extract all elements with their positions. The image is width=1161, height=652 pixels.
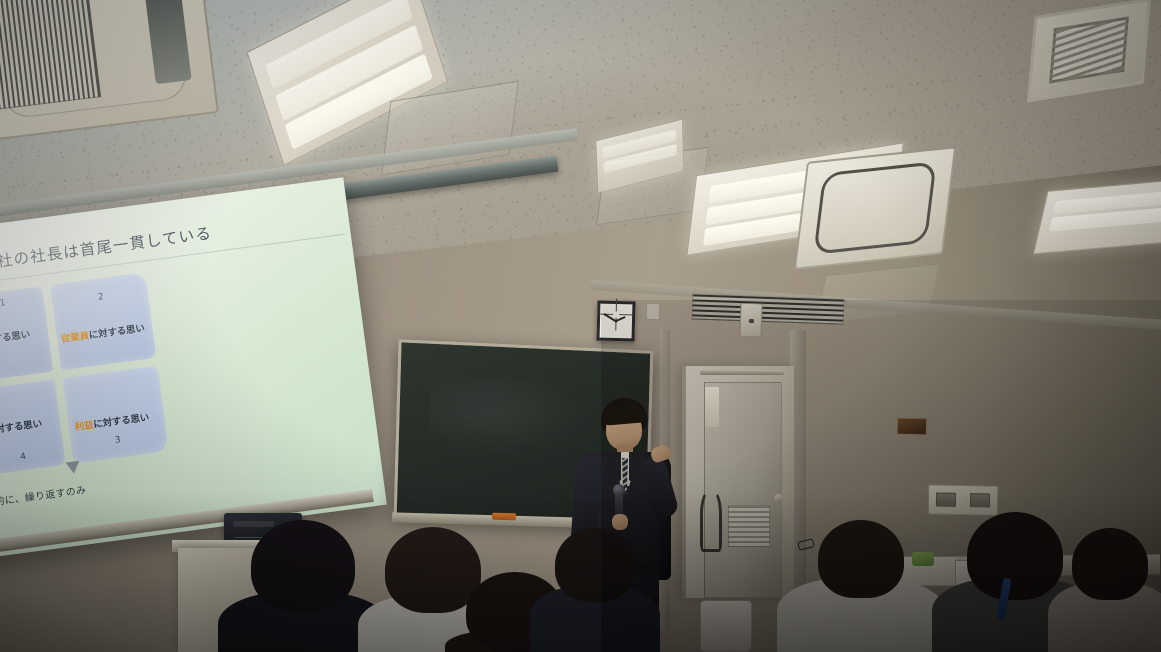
lecture-room-photo: 儲かる会社の社長は首尾一貫している 1 2 3 4 事業＝社会価値に対する思い …	[0, 0, 1161, 652]
clock-face	[602, 306, 631, 337]
wall-clock	[596, 301, 635, 342]
audience-head	[555, 528, 635, 602]
light-switch[interactable]	[970, 493, 990, 507]
quadrant-number-4: 4	[20, 452, 27, 463]
clock-tick	[619, 314, 632, 315]
slide-title: 儲かる会社の社長は首尾一貫している	[0, 221, 213, 280]
ac-cassette-unit	[794, 146, 956, 270]
door-leaf[interactable]	[704, 382, 782, 598]
door-handle[interactable]	[774, 494, 783, 503]
coat-rack	[700, 490, 722, 552]
clock-center-pin	[614, 319, 617, 322]
ac-grille-icon	[0, 0, 101, 110]
audience-head	[251, 520, 355, 612]
ac-inner-panel	[813, 162, 936, 255]
audience-member	[228, 520, 378, 652]
quadrant-number-3: 3	[114, 435, 121, 446]
quadrant-diagram: 1 2 3 4 事業＝社会価値に対する思い 従業員に対する思い 利益に対する思い…	[0, 272, 169, 477]
door-vent-icon	[728, 505, 770, 547]
chair	[700, 600, 752, 652]
door-closer	[700, 370, 784, 375]
quadrant-number-2: 2	[97, 292, 104, 303]
audience-member	[1058, 528, 1161, 652]
wall-panel	[646, 303, 661, 320]
door[interactable]	[682, 366, 794, 598]
blackboard-eraser	[492, 513, 516, 521]
wall-sign	[897, 418, 927, 436]
presenter-fringe	[602, 404, 645, 426]
light-switch[interactable]	[936, 493, 956, 507]
down-arrow-icon	[65, 461, 80, 475]
wall-speaker	[739, 303, 762, 338]
wall-vent	[692, 293, 845, 324]
audience-member	[540, 528, 650, 652]
light-switch-panel[interactable]	[928, 484, 999, 515]
audience-head	[967, 512, 1063, 600]
slide-caption: 徹底的に、繰り返すのみ	[0, 482, 87, 511]
door-light-gap	[705, 387, 719, 427]
audience-head	[1072, 528, 1148, 600]
clock-tick	[616, 298, 617, 311]
audience-head	[818, 520, 904, 598]
